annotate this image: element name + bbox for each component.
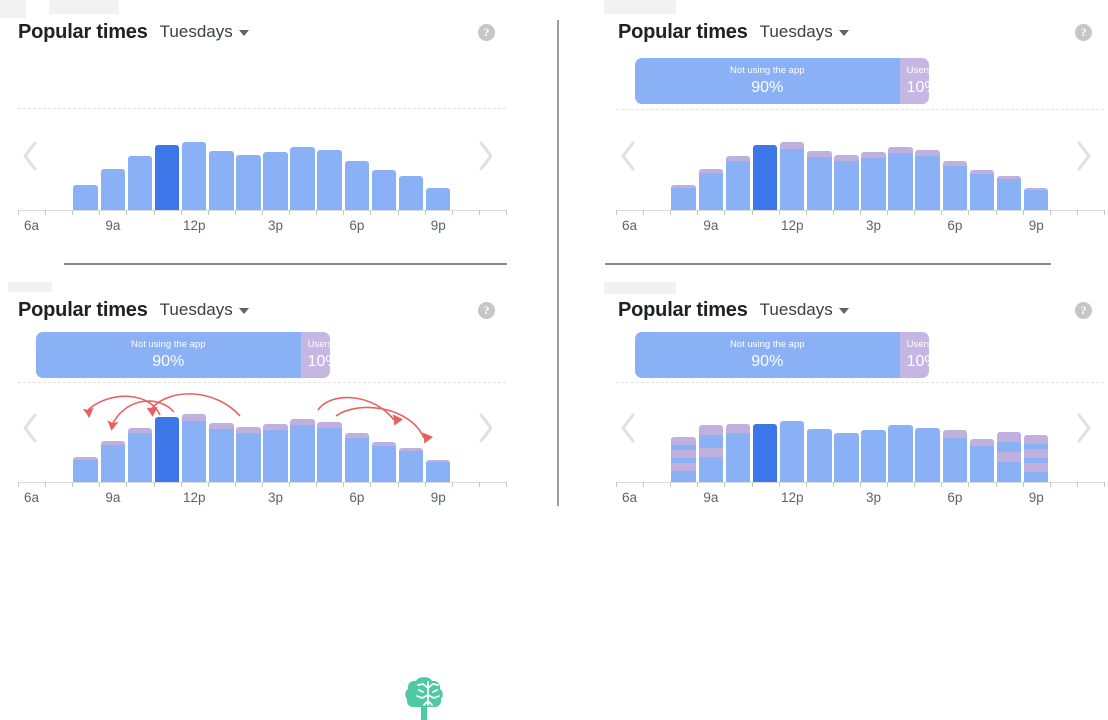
bar-segment-non-users [155,417,180,482]
bar-segment-users [726,424,751,433]
split-segment-non-users: Not using the app 90% [36,332,301,378]
x-axis-tick-mark [99,210,100,215]
bar-segment-non-users [915,428,940,482]
bar-segment-non-users [726,161,751,210]
x-axis-tick-mark [506,210,507,215]
bar-4p[interactable] [888,425,913,482]
bar-segment-non-users [970,446,995,464]
bar-segment-non-users [699,457,724,469]
x-axis-tick-3p: 3p [866,490,881,506]
bar-segment-non-users [943,438,968,460]
x-axis-tick-mark [208,210,209,215]
x-axis-tick-mark [45,482,46,487]
bar-segment-non-users [209,429,234,482]
bar-segment-non-users [73,185,98,210]
bar-segment-non-users [236,155,261,210]
x-axis-tick-9p: 9p [431,490,446,506]
x-axis-tick-6p: 6p [947,490,962,506]
x-axis-tick-mark [45,210,46,215]
bar-segment-non-users [943,166,968,210]
bar-7p[interactable] [970,170,995,210]
x-axis-tick-mark [670,210,671,215]
x-axis-tick-6p: 6p [947,218,962,234]
bar-9a[interactable] [101,169,126,210]
x-axis-tick-mark [996,482,997,487]
bar-segment-non-users [915,156,940,210]
bar-segment-non-users [399,451,424,482]
bar-segment-non-users [834,161,859,211]
x-axis-tick-mark [616,210,617,215]
bar-7p[interactable] [970,439,995,482]
bar-segment-non-users [73,460,98,483]
bar-segment-non-users [128,433,153,482]
bar-segment-non-users [290,425,315,482]
day-selector[interactable]: Tuesdays [160,21,249,43]
bar-5p[interactable] [317,150,342,210]
split-segment-users: Users 10% [900,332,929,378]
bar-segment-users [182,414,207,421]
x-axis-tick-mark [941,210,942,215]
x-axis-tick-mark [289,210,290,215]
section-divider-left [64,263,507,265]
usage-split-bar[interactable]: Not using the app 90% Users 10% [635,332,929,378]
x-axis-tick-12p: 12p [183,490,206,506]
bar-segment-non-users [834,433,859,483]
x-axis-tick-mark [616,482,617,487]
bar-3p[interactable] [861,152,886,210]
x-axis-line [18,210,506,211]
x-axis-tick-mark [181,482,182,487]
x-axis-tick-mark [262,210,263,215]
split-label-non-users: Not using the app [730,65,804,77]
x-axis-tick-mark [72,210,73,215]
bar-segment-users [943,430,968,438]
bar-10a[interactable] [128,428,153,482]
x-axis-tick-mark [968,482,969,487]
x-axis-tick-mark [18,210,19,215]
day-selector-label: Tuesdays [160,299,233,321]
bar-segment-non-users [128,156,153,210]
x-axis-tick-mark [18,482,19,487]
x-axis-tick-mark [235,210,236,215]
bar-segment-non-users [997,472,1022,482]
bar-segment-users [671,450,696,458]
bar-segment-users [671,437,696,445]
page-title: Popular times [18,20,148,44]
split-value-non-users: 90% [751,352,783,372]
bar-9p[interactable] [426,188,451,210]
bar-segment-non-users [209,151,234,210]
x-axis-tick-mark [697,210,698,215]
x-axis-tick-9p: 9p [1029,490,1044,506]
bar-segment-non-users [970,174,995,210]
x-axis-tick-mark [860,482,861,487]
bar-segment-users [1024,463,1049,472]
popular-times-chart-with-users [598,120,1108,210]
x-axis-tick-9a: 9a [105,490,120,506]
bar-2p[interactable] [834,433,859,483]
chevron-down-icon [239,308,249,314]
bar-group [598,120,1108,210]
x-axis-line [18,482,506,483]
day-selector[interactable]: Tuesdays [760,21,849,43]
split-value-users: 10% [907,352,929,372]
bar-3p[interactable] [263,152,288,210]
x-axis-tick-6a: 6a [622,490,637,506]
bar-9a[interactable] [101,441,126,482]
x-axis-tick-9a: 9a [703,218,718,234]
x-axis-tick-mark [1050,482,1051,487]
panel-top-right: Popular times Tuesdays ? Not using the a… [557,0,1108,264]
bar-segment-non-users [807,429,832,482]
page-title: Popular times [618,298,748,322]
x-axis-tick-mark [343,210,344,215]
bar-segment-non-users [861,430,886,482]
x-axis-tick-mark [343,482,344,487]
bar-12p[interactable] [780,142,805,210]
x-axis-tick-9a: 9a [703,490,718,506]
x-axis-tick-mark [697,482,698,487]
bar-segment-non-users [101,445,126,482]
x-axis-labels: 6a9a12p3p6p9p [598,490,1108,508]
bar-segment-non-users [970,464,995,482]
bar-segment-non-users [263,430,288,482]
bar-11a[interactable] [753,424,778,483]
split-segment-non-users: Not using the app 90% [635,332,900,378]
bar-segment-non-users [263,152,288,210]
x-axis-tick-mark [1104,210,1105,215]
x-axis-tick-mark [833,482,834,487]
bar-segment-non-users [182,421,207,482]
bar-10a[interactable] [726,424,751,482]
bar-segment-non-users [807,157,832,210]
split-value-users: 10% [907,78,929,98]
chevron-down-icon [839,30,849,36]
bar-segment-users [1024,449,1049,458]
panel-bottom-left: Popular times Tuesdays ? Not using the a… [0,280,557,527]
x-axis-tick-mark [887,482,888,487]
x-axis-tick-mark [1050,210,1051,215]
panel-top-left: Popular times Tuesdays ? 6a9a12p3p6p9p [0,0,557,264]
x-axis-tick-mark [752,482,753,487]
bar-segment-non-users [888,153,913,210]
split-segment-non-users: Not using the app 90% [635,58,900,104]
help-circle-icon[interactable]: ? [478,24,495,41]
x-axis-tick-9p: 9p [1029,218,1044,234]
bar-1p[interactable] [209,423,234,482]
bar-segment-non-users [753,145,778,210]
bar-segment-non-users [317,428,342,482]
x-axis-tick-mark [779,210,780,215]
popular-times-chart-redistributed [598,392,1108,482]
x-axis-tick-mark [724,482,725,487]
bar-segment-users [997,452,1022,462]
bar-segment-non-users [726,433,751,457]
x-axis-tick-mark [316,210,317,215]
bar-9a[interactable] [699,169,724,210]
chevron-down-icon [239,30,249,36]
x-axis-tick-mark [72,482,73,487]
x-axis-tick-6a: 6a [622,218,637,234]
x-axis-tick-6a: 6a [24,218,39,234]
bar-9a[interactable] [699,425,724,482]
bar-6p[interactable] [345,433,370,482]
bar-8a[interactable] [73,185,98,210]
x-axis-tick-12p: 12p [781,490,804,506]
x-axis-tick-mark [752,210,753,215]
help-circle-icon[interactable]: ? [1075,24,1092,41]
x-axis-line [616,482,1104,483]
x-axis-tick-mark [914,210,915,215]
bar-7p[interactable] [372,170,397,210]
x-axis-tick-mark [806,482,807,487]
bar-3p[interactable] [861,430,886,482]
bar-11a[interactable] [155,417,180,482]
bar-segment-users [671,463,696,471]
x-axis-tick-mark [1104,482,1105,487]
x-axis-tick-mark [370,482,371,487]
bar-segment-non-users [726,458,751,482]
chart-top-guide [616,382,1104,383]
chart-top-guide [18,382,506,383]
day-selector-label: Tuesdays [760,299,833,321]
bar-9p[interactable] [1024,435,1049,482]
bar-3p[interactable] [263,424,288,482]
bar-segment-non-users [345,438,370,482]
bar-segment-non-users [317,150,342,210]
x-axis-tick-mark [724,210,725,215]
bar-segment-non-users [997,179,1022,210]
bar-10a[interactable] [726,156,751,210]
bar-segment-non-users [699,173,724,210]
x-axis-tick-mark [154,210,155,215]
bar-4p[interactable] [290,419,315,482]
bar-segment-non-users [888,425,913,482]
help-circle-icon[interactable]: ? [478,302,495,319]
x-axis-tick-mark [779,482,780,487]
bar-4p[interactable] [888,147,913,210]
bar-11a[interactable] [753,145,778,210]
bar-4p[interactable] [290,147,315,210]
bar-12p[interactable] [182,414,207,482]
bar-8p[interactable] [997,176,1022,210]
bar-segment-non-users [997,462,1022,472]
x-axis-tick-mark [425,210,426,215]
bar-segment-non-users [671,188,696,211]
bar-segment-users [997,432,1022,442]
x-axis-tick-6p: 6p [349,490,364,506]
x-axis-tick-3p: 3p [268,218,283,234]
x-axis-tick-9a: 9a [105,218,120,234]
bar-7p[interactable] [372,442,397,482]
section-divider-right [605,263,1051,265]
bar-8a[interactable] [671,185,696,210]
x-axis-labels: 6a9a12p3p6p9p [0,218,510,236]
bar-1p[interactable] [209,151,234,210]
x-axis-tick-mark [643,210,644,215]
bar-6p[interactable] [943,430,968,482]
x-axis-tick-3p: 3p [268,490,283,506]
x-axis-tick-mark [941,482,942,487]
x-axis-tick-mark [370,210,371,215]
x-axis-line [616,210,1104,211]
split-segment-users: Users 10% [900,58,929,104]
bar-12p[interactable] [780,421,805,482]
bar-8a[interactable] [671,437,696,482]
x-axis-tick-12p: 12p [781,218,804,234]
x-axis-tick-mark [208,482,209,487]
day-selector-label: Tuesdays [760,21,833,43]
x-axis-labels: 6a9a12p3p6p9p [0,490,510,508]
bar-segment-non-users [780,421,805,482]
bar-segment-non-users [1024,190,1049,210]
split-label-users: Users [907,339,929,351]
bar-segment-non-users [699,470,724,482]
x-axis-tick-mark [452,210,453,215]
bar-9p[interactable] [1024,188,1049,210]
bar-12p[interactable] [182,142,207,210]
split-value-non-users: 90% [751,78,783,98]
x-axis-tick-mark [887,210,888,215]
bar-2p[interactable] [834,155,859,210]
bar-5p[interactable] [915,150,940,210]
split-value-non-users: 90% [152,352,184,372]
bar-9p[interactable] [426,460,451,482]
bar-8p[interactable] [997,432,1022,482]
x-axis-tick-mark [181,210,182,215]
x-axis-tick-mark [235,482,236,487]
bar-segment-non-users [699,435,724,447]
bar-segment-users [780,142,805,149]
bar-segment-non-users [997,442,1022,452]
x-axis-tick-12p: 12p [183,218,206,234]
bar-1p[interactable] [807,151,832,210]
bar-5p[interactable] [915,428,940,482]
bar-group [0,392,510,482]
bar-8p[interactable] [399,176,424,210]
bar-6p[interactable] [345,161,370,210]
x-axis-tick-mark [398,210,399,215]
x-axis-tick-mark [452,482,453,487]
bar-10a[interactable] [128,156,153,210]
bar-segment-non-users [399,176,424,210]
x-axis-tick-mark [806,210,807,215]
chart-top-guide [616,109,1104,110]
bar-segment-non-users [372,170,397,210]
x-axis-labels: 6a9a12p3p6p9p [598,218,1108,236]
bar-11a[interactable] [155,145,180,210]
x-axis-tick-mark [1023,482,1024,487]
x-axis-tick-mark [316,482,317,487]
bar-8a[interactable] [73,457,98,482]
bar-2p[interactable] [236,427,261,482]
popular-times-chart-annotated [0,392,510,482]
x-axis-tick-mark [968,210,969,215]
day-selector[interactable]: Tuesdays [160,299,249,321]
bar-8p[interactable] [399,448,424,482]
x-axis-tick-mark [425,482,426,487]
bar-segment-non-users [101,169,126,210]
bar-segment-non-users [943,460,968,482]
bar-segment-users [1024,435,1049,444]
bar-segment-non-users [426,462,451,482]
bar-group [0,120,510,210]
day-selector[interactable]: Tuesdays [760,299,849,321]
x-axis-tick-mark [479,482,480,487]
x-axis-tick-mark [1077,210,1078,215]
usage-split-bar[interactable]: Not using the app 90% Users 10% [36,332,330,378]
usage-split-bar[interactable]: Not using the app 90% Users 10% [635,58,929,104]
bar-segment-non-users [236,433,261,483]
x-axis-tick-6a: 6a [24,490,39,506]
bar-segment-non-users [426,188,451,210]
x-axis-tick-9p: 9p [431,218,446,234]
bar-segment-users [970,439,995,446]
x-axis-tick-mark [262,482,263,487]
bar-segment-non-users [780,149,805,210]
split-label-non-users: Not using the app [131,339,205,351]
bar-segment-non-users [155,145,180,210]
chart-top-guide [18,108,506,109]
bar-6p[interactable] [943,161,968,210]
bar-group [598,392,1108,482]
bar-segment-non-users [290,147,315,210]
chevron-down-icon [839,308,849,314]
split-label-non-users: Not using the app [730,339,804,351]
bar-segment-users [699,425,724,435]
x-axis-tick-mark [99,482,100,487]
x-axis-tick-mark [506,482,507,487]
x-axis-tick-mark [643,482,644,487]
x-axis-tick-6p: 6p [349,218,364,234]
bar-segment-non-users [345,161,370,210]
split-segment-users: Users 10% [301,332,330,378]
split-label-users: Users [308,339,330,351]
x-axis-tick-mark [1023,210,1024,215]
split-value-users: 10% [308,352,330,372]
popular-times-comparison-board: Popular times Tuesdays ? 6a9a12p3p6p9p P… [0,0,1108,527]
x-axis-tick-mark [289,482,290,487]
bar-2p[interactable] [236,155,261,210]
x-axis-tick-3p: 3p [866,218,881,234]
day-selector-label: Tuesdays [160,21,233,43]
page-title: Popular times [618,20,748,44]
split-label-users: Users [907,65,929,77]
bar-segment-non-users [753,424,778,483]
page-title: Popular times [18,298,148,322]
x-axis-tick-mark [126,210,127,215]
x-axis-tick-mark [154,482,155,487]
x-axis-tick-mark [126,482,127,487]
bar-5p[interactable] [317,422,342,482]
help-circle-icon[interactable]: ? [1075,302,1092,319]
bar-segment-non-users [861,158,886,210]
x-axis-tick-mark [670,482,671,487]
x-axis-tick-mark [860,210,861,215]
x-axis-tick-mark [398,482,399,487]
x-axis-tick-mark [479,210,480,215]
x-axis-tick-mark [914,482,915,487]
brain-icon [404,676,452,720]
x-axis-tick-mark [996,210,997,215]
popular-times-chart-baseline [0,120,510,210]
x-axis-tick-mark [833,210,834,215]
x-axis-tick-mark [1077,482,1078,487]
bar-1p[interactable] [807,429,832,482]
bar-segment-non-users [372,446,397,482]
bar-segment-non-users [182,142,207,210]
panel-bottom-right: Popular times Tuesdays ? Not using the a… [557,280,1108,527]
